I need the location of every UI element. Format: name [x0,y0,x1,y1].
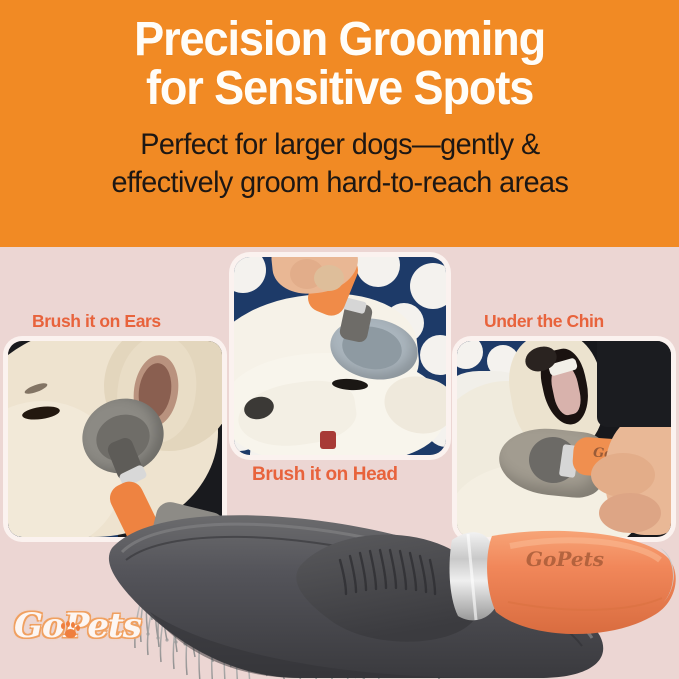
caption-head: Brush it on Head [252,464,398,486]
header-banner: Precision Grooming for Sensitive Spots P… [0,0,679,247]
photo-chin: GoPets [457,341,671,537]
subtitle-line-2: effectively groom hard-to-reach areas [111,164,568,202]
caption-chin: Under the Chin [484,311,604,332]
title-line-2: for Sensitive Spots [134,65,545,114]
brand-logo: GoPets [14,606,132,662]
caption-ears: Brush it on Ears [32,311,161,332]
photo-head [234,257,446,455]
page-subtitle: Perfect for larger dogs—gently & effecti… [111,126,568,203]
paw-print-icon [60,622,80,642]
title-line-1: Precision Grooming [134,13,545,66]
product-marketing-image: Precision Grooming for Sensitive Spots P… [0,0,679,679]
subtitle-line-1: Perfect for larger dogs—gently & [140,128,539,161]
photo-ears [8,341,222,537]
page-title: Precision Grooming for Sensitive Spots [134,16,545,114]
